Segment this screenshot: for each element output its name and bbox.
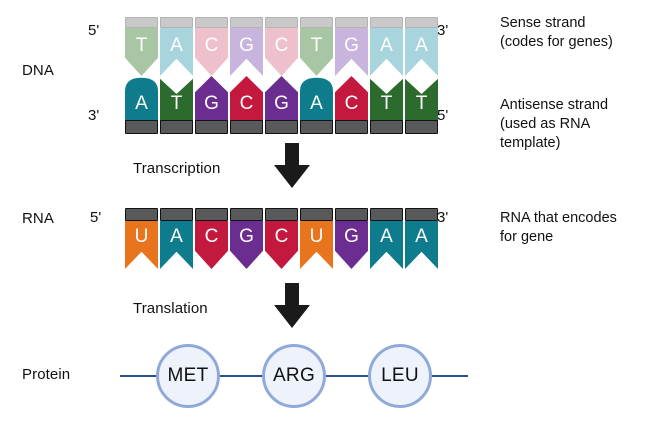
nucleotide-u: U [125, 221, 158, 269]
nucleotide-shape [160, 221, 193, 269]
nucleotide-shape [265, 221, 298, 269]
backbone-segment [265, 208, 298, 221]
backbone-segment [195, 17, 228, 28]
nucleotide-shape [125, 28, 158, 76]
backbone-segment [405, 208, 438, 221]
dna-sense-three-prime: 3' [437, 22, 448, 39]
note-antisense-strand: Antisense strand (used as RNA template) [500, 96, 645, 153]
amino-acid-residue: MET [156, 344, 220, 408]
nucleotide-c: C [195, 221, 228, 269]
nucleotide-shape [370, 221, 403, 269]
note-rna: RNA that encodes for gene [500, 209, 650, 247]
process-label-transcription: Transcription [133, 160, 220, 177]
backbone-segment [230, 120, 263, 134]
rna-three-prime: 3' [437, 209, 448, 226]
backbone-segment [335, 120, 368, 134]
nucleotide-shape [265, 76, 298, 121]
nucleotide-shape [335, 28, 368, 76]
nucleotide-a: A [405, 28, 438, 76]
nucleotide-shape [195, 221, 228, 269]
nucleotide-a: A [370, 221, 403, 269]
backbone-segment [230, 208, 263, 221]
nucleotide-shape [300, 28, 333, 76]
nucleotide-shape [370, 76, 403, 121]
nucleotide-t: T [300, 28, 333, 76]
backbone-segment [195, 208, 228, 221]
backbone-segment [335, 208, 368, 221]
row-label-protein: Protein [22, 366, 70, 383]
backbone-segment [160, 120, 193, 134]
nucleotide-g: G [230, 221, 263, 269]
nucleotide-g: G [265, 76, 298, 121]
nucleotide-t: T [125, 28, 158, 76]
nucleotide-shape [125, 76, 158, 121]
backbone-segment [160, 17, 193, 28]
nucleotide-c: C [335, 76, 368, 121]
backbone-segment [335, 17, 368, 28]
process-label-translation: Translation [133, 300, 208, 317]
rna-strand: UACGCUGAA [125, 221, 438, 269]
nucleotide-shape [160, 28, 193, 76]
nucleotide-shape [405, 76, 438, 121]
nucleotide-shape [230, 221, 263, 269]
nucleotide-c: C [195, 28, 228, 76]
amino-acid-residue: ARG [262, 344, 326, 408]
nucleotide-a: A [125, 76, 158, 121]
dna-sense-five-prime: 5' [88, 22, 99, 39]
dna-antisense-three-prime: 3' [88, 107, 99, 124]
rna-backbone [125, 208, 438, 221]
protein-chain: METARGLEU [120, 340, 450, 412]
backbone-segment [370, 17, 403, 28]
note-sense-strand: Sense strand (codes for genes) [500, 14, 645, 52]
nucleotide-shape [405, 28, 438, 76]
nucleotide-shape [125, 221, 158, 269]
backbone-segment [125, 120, 158, 134]
nucleotide-shape [300, 221, 333, 269]
nucleotide-shape [300, 76, 333, 121]
nucleotide-c: C [265, 28, 298, 76]
nucleotide-shape [230, 28, 263, 76]
nucleotide-a: A [160, 221, 193, 269]
rna-five-prime: 5' [90, 209, 101, 226]
nucleotide-shape [265, 28, 298, 76]
dna-antisense-five-prime: 5' [437, 107, 448, 124]
nucleotide-g: G [230, 28, 263, 76]
row-label-dna: DNA [22, 62, 54, 79]
nucleotide-a: A [405, 221, 438, 269]
backbone-segment [160, 208, 193, 221]
row-label-rna: RNA [22, 210, 54, 227]
nucleotide-g: G [335, 221, 368, 269]
backbone-segment [125, 208, 158, 221]
nucleotide-t: T [370, 76, 403, 121]
nucleotide-shape [405, 221, 438, 269]
transcription-arrow-icon [272, 143, 312, 194]
translation-arrow-icon [272, 283, 312, 334]
backbone-segment [370, 208, 403, 221]
backbone-segment [300, 120, 333, 134]
nucleotide-u: U [300, 221, 333, 269]
backbone-segment [230, 17, 263, 28]
dna-antisense-backbone [125, 120, 438, 134]
nucleotide-t: T [405, 76, 438, 121]
dna-sense-backbone [125, 17, 438, 28]
nucleotide-c: C [265, 221, 298, 269]
backbone-segment [370, 120, 403, 134]
figure-canvas: DNA RNA Protein 5' 3' 3' 5' TACGCTGAA AT… [0, 0, 650, 423]
nucleotide-g: G [195, 76, 228, 121]
amino-acid-residue: LEU [368, 344, 432, 408]
nucleotide-shape [195, 76, 228, 121]
nucleotide-c: C [230, 76, 263, 121]
nucleotide-shape [195, 28, 228, 76]
nucleotide-shape [160, 76, 193, 121]
backbone-segment [265, 120, 298, 134]
nucleotide-shape [335, 76, 368, 121]
backbone-segment [125, 17, 158, 28]
dna-antisense-strand: ATGCGACTT [125, 76, 438, 121]
nucleotide-shape [230, 76, 263, 121]
backbone-segment [405, 120, 438, 134]
backbone-segment [195, 120, 228, 134]
nucleotide-a: A [300, 76, 333, 121]
backbone-segment [405, 17, 438, 28]
nucleotide-shape [370, 28, 403, 76]
nucleotide-a: A [160, 28, 193, 76]
backbone-segment [300, 208, 333, 221]
nucleotide-a: A [370, 28, 403, 76]
nucleotide-g: G [335, 28, 368, 76]
backbone-segment [300, 17, 333, 28]
nucleotide-t: T [160, 76, 193, 121]
nucleotide-shape [335, 221, 368, 269]
backbone-segment [265, 17, 298, 28]
dna-sense-strand: TACGCTGAA [125, 28, 438, 76]
